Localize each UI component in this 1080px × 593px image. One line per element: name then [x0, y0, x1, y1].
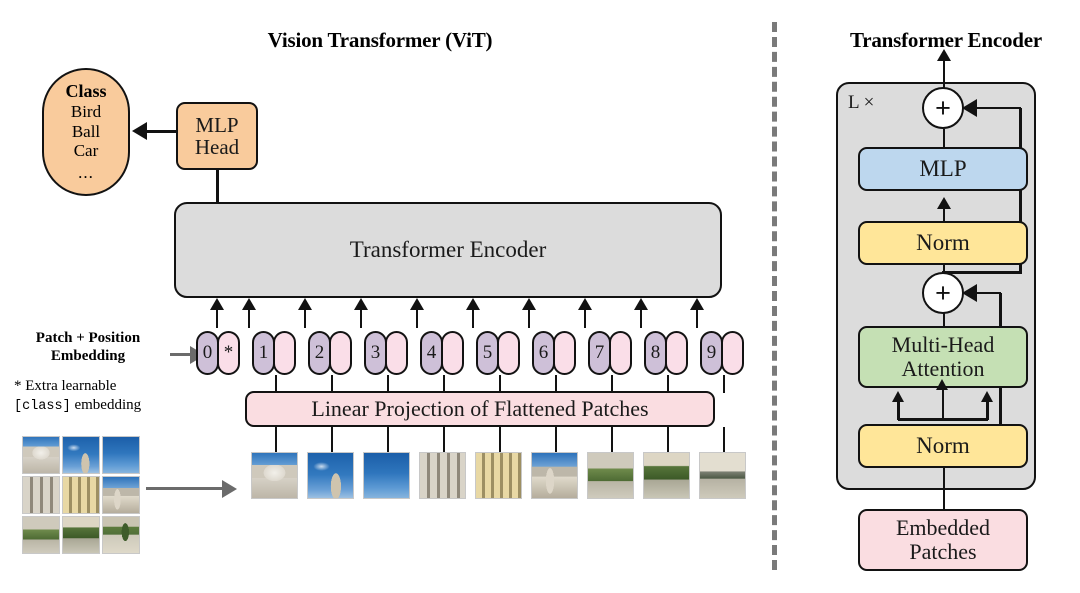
- transformer-encoder-label: Transformer Encoder: [350, 238, 547, 263]
- token-0-class[interactable]: 0 *: [196, 331, 240, 375]
- sequence-patch-6: [587, 452, 634, 499]
- mlp-box: MLP: [858, 147, 1028, 191]
- sequence-patch-4: [475, 452, 522, 499]
- class-heading: Class: [65, 81, 106, 102]
- linear-projection-label: Linear Projection of Flattened Patches: [311, 397, 648, 421]
- class-ellipsis: ...: [78, 163, 94, 183]
- embedded-patches-line1: Embedded: [896, 516, 990, 540]
- sequence-patch-1: [307, 452, 354, 499]
- grid-to-sequence-arrowhead: [222, 480, 237, 498]
- class-item-car: Car: [74, 141, 99, 161]
- class-item-ball: Ball: [72, 122, 100, 142]
- token-4[interactable]: 4: [420, 331, 464, 375]
- embedding-label-arrow-line: [170, 353, 192, 356]
- source-patch-5: [102, 476, 140, 514]
- token-6-position-embedding: 6: [532, 331, 555, 375]
- residual-add-top-symbol: +: [935, 95, 951, 122]
- residual-add-middle: +: [922, 272, 964, 314]
- embedded-patches-line2: Patches: [909, 540, 976, 564]
- token-5[interactable]: 5: [476, 331, 520, 375]
- extra-learnable-note-line1: * Extra learnable: [14, 377, 194, 396]
- grid-to-sequence-line: [146, 487, 224, 490]
- sequence-patch-2: [363, 452, 410, 499]
- token-1-position-embedding: 1: [252, 331, 275, 375]
- residual-add-top: +: [922, 87, 964, 129]
- multi-head-attention-box: Multi-Head Attention: [858, 326, 1028, 388]
- mlp-head-box: MLP Head: [176, 102, 258, 170]
- embedded-patches-to-norm-line: [943, 466, 946, 511]
- source-patch-7: [62, 516, 100, 554]
- source-patch-6: [22, 516, 60, 554]
- patch-position-embedding-label: Patch + Position Embedding: [8, 330, 168, 365]
- mlp-head-to-class-arrowhead: [132, 122, 147, 140]
- panel-divider: [772, 22, 777, 570]
- token-4-patch-embedding: [441, 331, 464, 375]
- embedded-patches-box: Embedded Patches: [858, 509, 1028, 571]
- token-2[interactable]: 2: [308, 331, 352, 375]
- mlp-head-to-encoder-line: [216, 168, 219, 204]
- token-5-position-embedding: 5: [476, 331, 499, 375]
- residual-add-middle-symbol: +: [935, 280, 951, 307]
- sequence-patch-7: [643, 452, 690, 499]
- source-patch-2: [102, 436, 140, 474]
- sequence-patch-0: [251, 452, 298, 499]
- mlp-head-to-class-line: [147, 130, 177, 133]
- linear-projection-box: Linear Projection of Flattened Patches: [245, 391, 715, 427]
- extra-learnable-note: * Extra learnable [class] embedding: [14, 377, 194, 416]
- mlp-to-add-line: [943, 129, 946, 149]
- token-3[interactable]: 3: [364, 331, 408, 375]
- token-6-patch-embedding: [553, 331, 576, 375]
- norm-bottom-box-label: Norm: [916, 434, 970, 459]
- attention-label-line1: Multi-Head: [892, 333, 995, 357]
- class-token-suffix: embedding: [71, 397, 141, 413]
- flattened-patch-sequence: [251, 452, 771, 502]
- source-patch-4: [62, 476, 100, 514]
- sequence-patch-3: [419, 452, 466, 499]
- token-3-patch-embedding: [385, 331, 408, 375]
- token-1-patch-embedding: [273, 331, 296, 375]
- norm-top-box-label: Norm: [916, 231, 970, 256]
- mlp-box-label: MLP: [919, 157, 966, 182]
- source-patch-0: [22, 436, 60, 474]
- token-8-position-embedding: 8: [644, 331, 667, 375]
- token-7[interactable]: 7: [588, 331, 632, 375]
- token-0-class-embedding: *: [217, 331, 240, 375]
- encoder-output-arrowhead: [937, 49, 951, 61]
- repeat-count-label: L ×: [848, 92, 874, 114]
- token-9-position-embedding: 9: [700, 331, 723, 375]
- norm-top-box: Norm: [858, 221, 1028, 265]
- token-7-position-embedding: 7: [588, 331, 611, 375]
- token-2-position-embedding: 2: [308, 331, 331, 375]
- attention-label-line2: Attention: [901, 357, 984, 381]
- token-2-patch-embedding: [329, 331, 352, 375]
- token-0-position-embedding: 0: [196, 331, 219, 375]
- token-7-patch-embedding: [609, 331, 632, 375]
- mlp-head-line1: MLP: [195, 114, 238, 136]
- left-panel-title: Vision Transformer (ViT): [180, 28, 580, 53]
- source-image-patch-grid: [22, 436, 141, 555]
- class-token-literal: [class]: [14, 399, 71, 414]
- token-8-patch-embedding: [665, 331, 688, 375]
- norm-bottom-box: Norm: [858, 424, 1028, 468]
- token-1[interactable]: 1: [252, 331, 296, 375]
- class-output-box: Class Bird Ball Car ...: [42, 68, 130, 196]
- token-5-patch-embedding: [497, 331, 520, 375]
- vit-architecture-figure: Vision Transformer (ViT) Class Bird Ball…: [0, 0, 1080, 593]
- source-patch-8: [102, 516, 140, 554]
- sequence-patch-5: [531, 452, 578, 499]
- extra-learnable-note-line2: [class] embedding: [14, 396, 194, 416]
- token-8[interactable]: 8: [644, 331, 688, 375]
- source-patch-1: [62, 436, 100, 474]
- token-6[interactable]: 6: [532, 331, 576, 375]
- token-4-position-embedding: 4: [420, 331, 443, 375]
- sequence-patch-8: [699, 452, 746, 499]
- norm-top-to-mlp-arrowhead: [937, 197, 951, 209]
- token-9-patch-embedding: [721, 331, 744, 375]
- mlp-head-line2: Head: [195, 136, 239, 158]
- token-9[interactable]: 9: [700, 331, 744, 375]
- source-patch-3: [22, 476, 60, 514]
- token-3-position-embedding: 3: [364, 331, 387, 375]
- class-item-bird: Bird: [71, 102, 101, 122]
- transformer-encoder-box: Transformer Encoder: [174, 202, 722, 298]
